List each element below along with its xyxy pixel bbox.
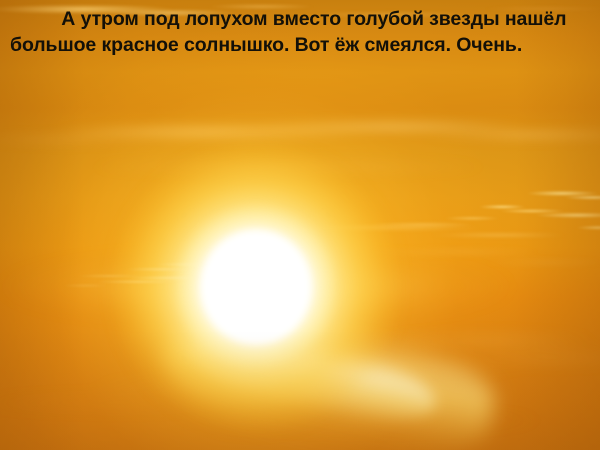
sunset-image: А утром под лопухом вместо голубой звезд…	[0, 0, 600, 450]
side-vignette	[0, 0, 600, 450]
caption-text: А утром под лопухом вместо голубой звезд…	[0, 6, 600, 58]
